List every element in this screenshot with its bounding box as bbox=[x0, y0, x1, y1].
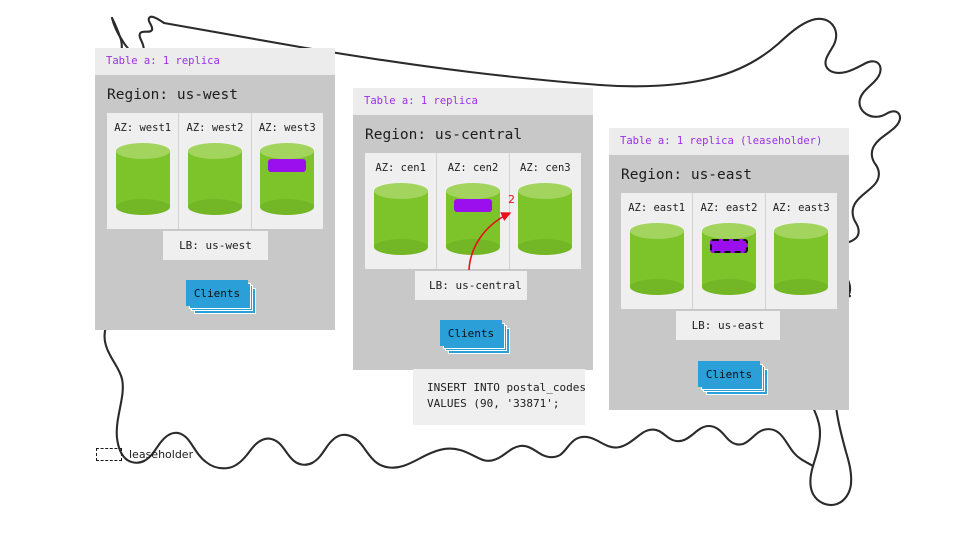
cylinder-bottom bbox=[188, 199, 242, 215]
cylinder-bottom bbox=[630, 279, 684, 295]
az-label-east3: AZ: east3 bbox=[766, 202, 837, 214]
cylinder-top bbox=[774, 223, 828, 239]
cylinder-top bbox=[374, 183, 428, 199]
node-cylinder-west3[interactable] bbox=[260, 143, 314, 215]
clients-button-us-west[interactable]: Clients bbox=[186, 280, 248, 306]
node-cylinder-east3[interactable] bbox=[774, 223, 828, 295]
node-cylinder-west2[interactable] bbox=[188, 143, 242, 215]
cylinder-bottom bbox=[518, 239, 572, 255]
az-strip-us-west: AZ: west1 AZ: west2 AZ: west3 bbox=[107, 113, 323, 229]
az-label-west1: AZ: west1 bbox=[107, 122, 178, 134]
az-label-west2: AZ: west2 bbox=[179, 122, 250, 134]
node-cylinder-cen2[interactable] bbox=[446, 183, 500, 255]
az-label-cen2: AZ: cen2 bbox=[437, 162, 508, 174]
cylinder-bottom bbox=[702, 279, 756, 295]
cylinder-top bbox=[116, 143, 170, 159]
node-cylinder-east1[interactable] bbox=[630, 223, 684, 295]
az-cell-cen3[interactable]: AZ: cen3 bbox=[510, 153, 581, 269]
az-label-east2: AZ: east2 bbox=[693, 202, 764, 214]
az-cell-west3[interactable]: AZ: west3 bbox=[252, 113, 323, 229]
cylinder-top bbox=[518, 183, 572, 199]
diagram-canvas: Table a: 1 replica Region: us-west AZ: w… bbox=[0, 0, 960, 540]
node-cylinder-cen1[interactable] bbox=[374, 183, 428, 255]
clients-stack-us-east[interactable]: Clients bbox=[698, 361, 760, 387]
node-cylinder-east2[interactable] bbox=[702, 223, 756, 295]
legend: leaseholder bbox=[96, 448, 193, 461]
region-header-us-east: Table a: 1 replica (leaseholder) bbox=[609, 128, 849, 155]
cylinder-bottom bbox=[446, 239, 500, 255]
az-label-west3: AZ: west3 bbox=[252, 122, 323, 134]
clients-button-us-east[interactable]: Clients bbox=[698, 361, 760, 387]
az-cell-cen1[interactable]: AZ: cen1 bbox=[365, 153, 437, 269]
node-cylinder-cen3[interactable] bbox=[518, 183, 572, 255]
region-header-us-west: Table a: 1 replica bbox=[95, 48, 335, 75]
cylinder-bottom bbox=[116, 199, 170, 215]
az-cell-east2[interactable]: AZ: east2 bbox=[693, 193, 765, 309]
region-title-us-east: Region: us-east bbox=[609, 155, 849, 193]
region-title-us-west: Region: us-west bbox=[95, 75, 335, 113]
az-label-east1: AZ: east1 bbox=[621, 202, 692, 214]
replica-block-cen2[interactable] bbox=[454, 199, 492, 212]
load-balancer-us-east[interactable]: LB: us-east bbox=[676, 311, 780, 340]
node-cylinder-west1[interactable] bbox=[116, 143, 170, 215]
az-label-cen3: AZ: cen3 bbox=[510, 162, 581, 174]
replica-block-west3[interactable] bbox=[268, 159, 306, 172]
cylinder-bottom bbox=[374, 239, 428, 255]
clients-stack-us-west[interactable]: Clients bbox=[186, 280, 248, 306]
az-cell-east1[interactable]: AZ: east1 bbox=[621, 193, 693, 309]
az-strip-us-central: AZ: cen1 AZ: cen2 AZ: cen3 bbox=[365, 153, 581, 269]
replica-block-east2-leaseholder[interactable] bbox=[710, 239, 748, 253]
region-header-us-central: Table a: 1 replica bbox=[353, 88, 593, 115]
az-cell-cen2[interactable]: AZ: cen2 bbox=[437, 153, 509, 269]
load-balancer-us-central[interactable]: LB: us-central bbox=[415, 271, 527, 300]
region-title-us-central: Region: us-central bbox=[353, 115, 593, 153]
cylinder-top bbox=[188, 143, 242, 159]
leaseholder-swatch-icon bbox=[96, 448, 122, 461]
cylinder-bottom bbox=[260, 199, 314, 215]
sql-statement-box: INSERT INTO postal_codes VALUES (90, '33… bbox=[413, 369, 585, 425]
az-cell-west1[interactable]: AZ: west1 bbox=[107, 113, 179, 229]
cylinder-top bbox=[630, 223, 684, 239]
az-cell-west2[interactable]: AZ: west2 bbox=[179, 113, 251, 229]
clients-button-us-central[interactable]: Clients bbox=[440, 320, 502, 346]
cylinder-bottom bbox=[774, 279, 828, 295]
clients-stack-us-central[interactable]: Clients bbox=[440, 320, 502, 346]
cylinder-top bbox=[702, 223, 756, 239]
az-label-cen1: AZ: cen1 bbox=[365, 162, 436, 174]
az-strip-us-east: AZ: east1 AZ: east2 AZ: east3 bbox=[621, 193, 837, 309]
annotation-step-2-label: 2 bbox=[508, 193, 515, 206]
cylinder-top bbox=[260, 143, 314, 159]
cylinder-top bbox=[446, 183, 500, 199]
load-balancer-us-west[interactable]: LB: us-west bbox=[163, 231, 268, 260]
az-cell-east3[interactable]: AZ: east3 bbox=[766, 193, 837, 309]
legend-label: leaseholder bbox=[129, 448, 193, 461]
